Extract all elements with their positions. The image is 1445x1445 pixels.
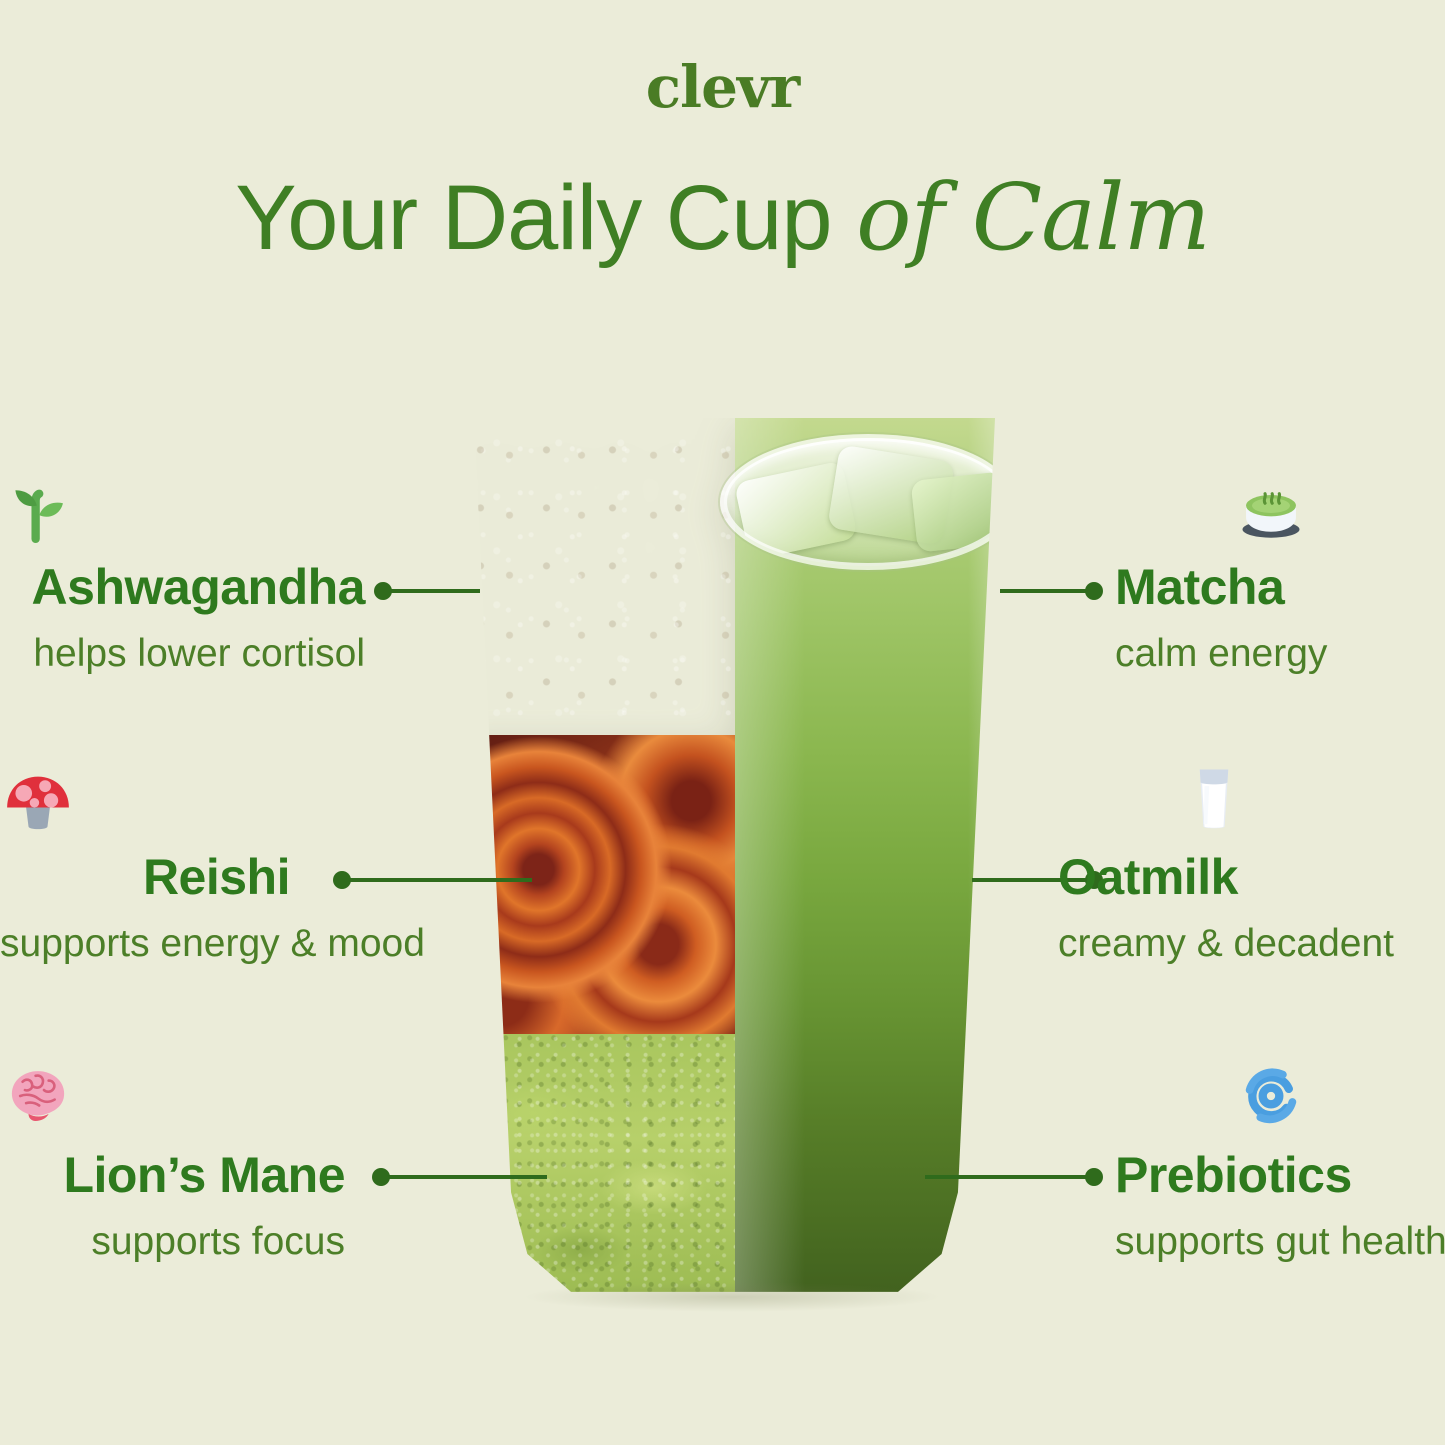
connector-dot (372, 1168, 390, 1186)
connector-dot (333, 871, 351, 889)
ingredient-desc: creamy & decadent (1058, 924, 1445, 963)
connector-dot (374, 582, 392, 600)
ingredient-name: Prebiotics (1115, 1150, 1445, 1200)
ingredient-name: Oatmilk (1058, 852, 1445, 902)
ingredient-reishi[interactable]: Reishi supports energy & mood (0, 760, 290, 963)
matcha-bowl-icon (1233, 470, 1445, 546)
ingredient-oatmilk[interactable]: Oatmilk creamy & decadent (1058, 760, 1445, 963)
ingredient-name: Matcha (1115, 562, 1445, 612)
ashwagandha-powder-photo (462, 418, 735, 735)
connector-dot (1085, 582, 1103, 600)
connector-matcha (1000, 589, 1100, 593)
page-title-emphasis: of Calm (856, 164, 1210, 271)
ingredient-desc: helps lower cortisol (0, 634, 365, 673)
sprout-icon (0, 470, 215, 546)
product-image (452, 398, 1012, 1308)
connector-ashwagandha (377, 589, 480, 593)
page-title: Your Daily Cup of Calm (0, 168, 1445, 268)
mushroom-icon (0, 760, 140, 836)
ingredient-desc: calm energy (1115, 634, 1445, 673)
milk-glass-icon (1176, 760, 1445, 836)
brand-logo: clevr (0, 58, 1445, 116)
cup-graphic (462, 418, 1007, 1298)
ingredient-prebiotics[interactable]: Prebiotics supports gut health (1115, 1058, 1445, 1261)
ingredient-name: Reishi (0, 852, 290, 902)
matcha-powder-photo (462, 1034, 735, 1298)
connector-dot (1085, 1168, 1103, 1186)
glass-rim-edge (720, 434, 1007, 570)
connector-reishi (336, 878, 532, 882)
ingredient-lions-mane[interactable]: Lion’s Mane supports focus (0, 1058, 345, 1261)
cup-ingredient-collage (462, 418, 735, 1298)
ingredient-desc: supports energy & mood (0, 924, 290, 963)
ingredient-desc: supports focus (0, 1222, 345, 1261)
ingredient-name: Ashwagandha (0, 562, 365, 612)
connector-lions-mane (375, 1175, 547, 1179)
reishi-mushroom-photo (462, 735, 735, 1034)
connector-prebiotics (925, 1175, 1100, 1179)
spiral-icon (1233, 1058, 1445, 1134)
cup-shadow (522, 1282, 942, 1312)
brain-icon (0, 1058, 195, 1134)
ingredient-matcha[interactable]: Matcha calm energy (1115, 470, 1445, 673)
page-title-part1: Your Daily Cup (235, 167, 856, 269)
ingredient-desc: supports gut health (1115, 1222, 1445, 1261)
ingredient-ashwagandha[interactable]: Ashwagandha helps lower cortisol (0, 470, 365, 673)
ingredient-name: Lion’s Mane (0, 1150, 345, 1200)
